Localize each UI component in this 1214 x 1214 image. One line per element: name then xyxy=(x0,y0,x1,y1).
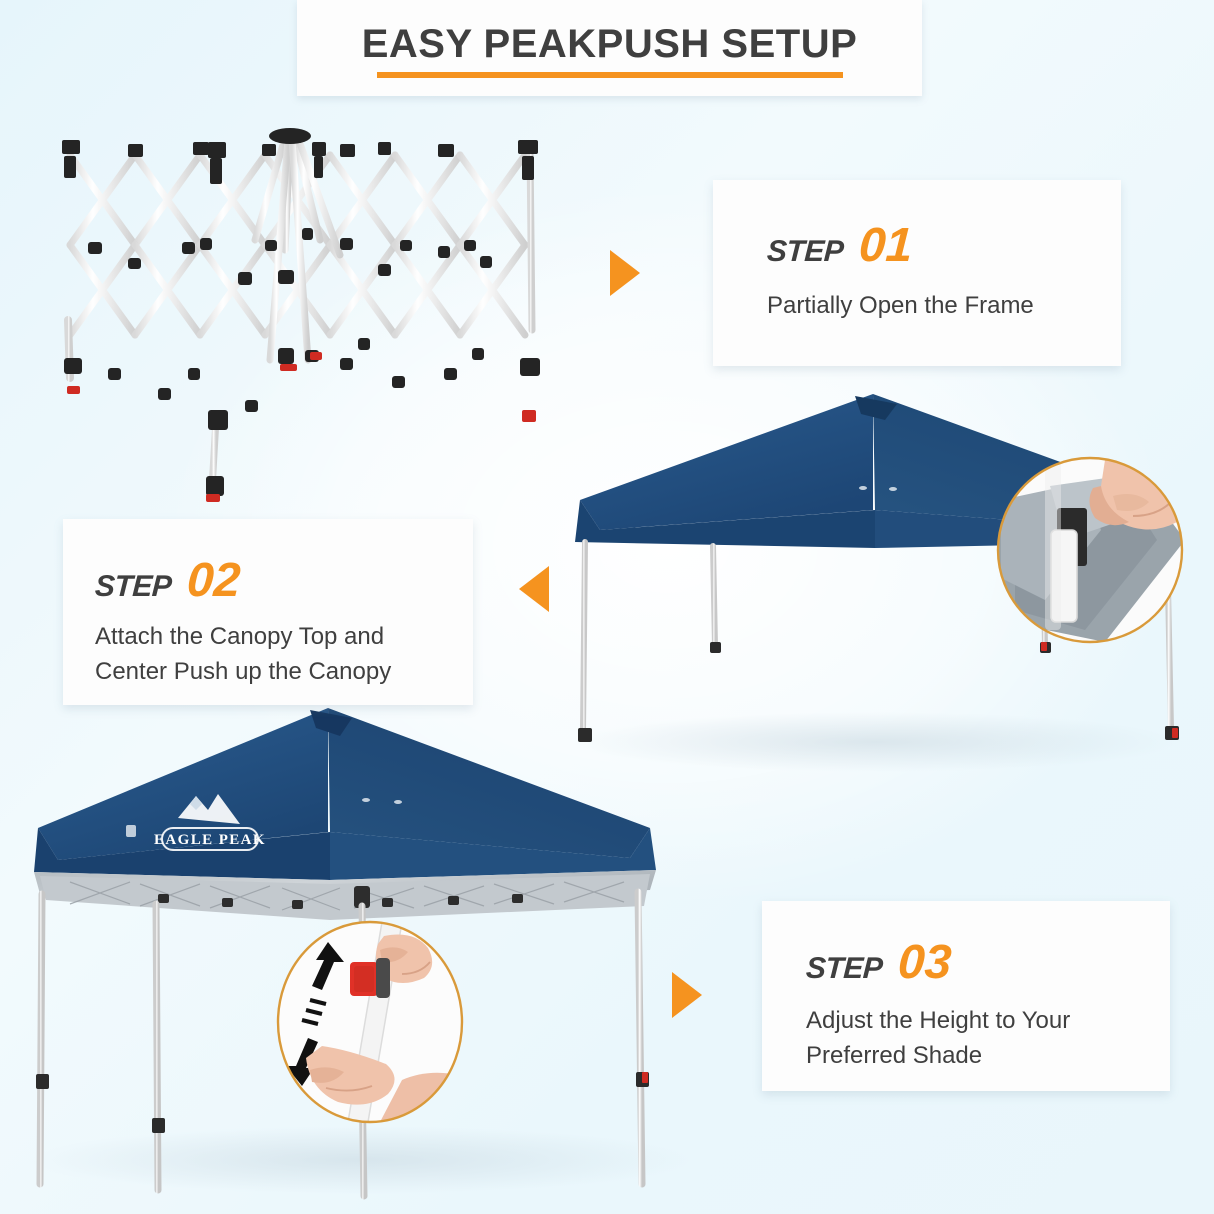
step-01-description: Partially Open the Frame xyxy=(767,289,1121,324)
step-02-label: STEP xyxy=(94,570,172,604)
infographic-page: EASY PEAKPUSH SETUP xyxy=(0,0,1214,1214)
title-underline xyxy=(377,72,843,78)
arrow-right-icon-step-03 xyxy=(672,972,702,1018)
header-banner: EASY PEAKPUSH SETUP xyxy=(297,0,922,96)
step-03-description: Adjust the Height to Your Preferred Shad… xyxy=(806,1004,1170,1074)
inset-height-adjust xyxy=(278,922,462,1122)
step-01-number: 01 xyxy=(858,224,914,267)
step-card-02: STEP 02 Attach the Canopy Top and Center… xyxy=(63,519,473,705)
step-02-description: Attach the Canopy Top and Center Push up… xyxy=(95,620,473,690)
step-03-heading: STEP 03 xyxy=(806,941,1170,986)
folded-frame-illustration xyxy=(40,120,580,520)
photo-canopy-full: EAGLE PEAK xyxy=(10,690,690,1200)
arrow-left-icon-step-02 xyxy=(519,566,549,612)
brand-logo-text: EAGLE PEAK xyxy=(154,832,266,848)
step-02-number: 02 xyxy=(186,559,242,602)
page-title: EASY PEAKPUSH SETUP xyxy=(362,24,858,64)
photo-folded-frame xyxy=(40,120,580,520)
step-03-number: 03 xyxy=(897,941,953,984)
arrow-right-icon-step-01 xyxy=(610,250,640,296)
step-01-label: STEP xyxy=(766,235,844,269)
canopy-full-illustration: EAGLE PEAK xyxy=(10,690,690,1200)
step-03-label: STEP xyxy=(805,952,883,986)
step-01-heading: STEP 01 xyxy=(767,224,1121,269)
step-02-heading: STEP 02 xyxy=(95,559,473,604)
step-card-01: STEP 01 Partially Open the Frame xyxy=(713,180,1121,366)
step-card-03: STEP 03 Adjust the Height to Your Prefer… xyxy=(762,901,1170,1091)
